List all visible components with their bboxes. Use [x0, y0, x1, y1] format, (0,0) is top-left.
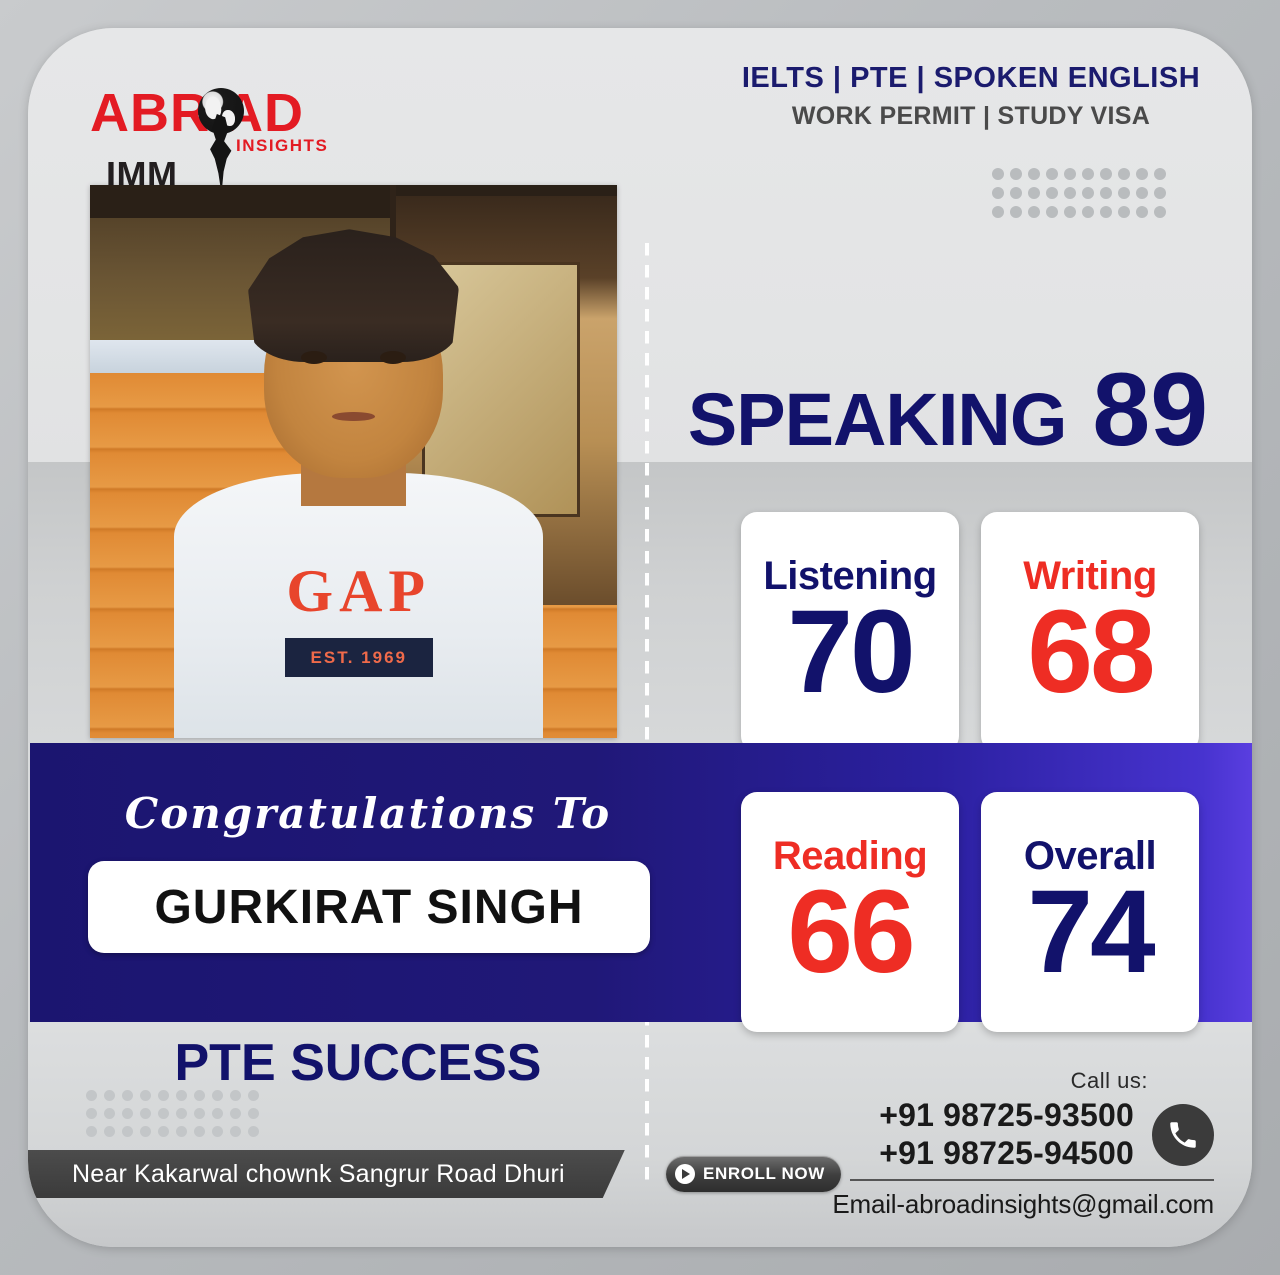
header-line-2: WORK PERMIT | STUDY VISA: [736, 102, 1206, 131]
congratulations-text: Congratulations To: [90, 789, 646, 838]
phone-number-1[interactable]: +91 98725-93500: [802, 1096, 1134, 1134]
contact-block: Call us: +91 98725-93500 +91 98725-94500…: [802, 1068, 1222, 1220]
score-value: 74: [1027, 872, 1152, 992]
speaking-label: SPEAKING: [688, 385, 1067, 455]
email-address[interactable]: Email-abroadinsights@gmail.com: [802, 1189, 1222, 1220]
brand-logo: ABR AD INSIGHTS IMM GRATION: [90, 70, 350, 188]
photo-shirt-brand: GAP: [253, 561, 464, 622]
call-us-label: Call us:: [802, 1068, 1148, 1094]
poster-card: ABR AD INSIGHTS IMM GRATION IELTS | PTE …: [28, 28, 1252, 1247]
speaking-score-row: SPEAKING 89: [668, 366, 1228, 455]
logo-insights-text: INSIGHTS: [236, 136, 328, 156]
score-card-overall: Overall 74: [981, 792, 1199, 1032]
decorative-dot-grid-top: [992, 168, 1172, 218]
speaking-value: 89: [1092, 366, 1208, 455]
header-services: IELTS | PTE | SPOKEN ENGLISH WORK PERMIT…: [736, 62, 1206, 131]
score-card-writing: Writing 68: [981, 512, 1199, 752]
score-card-listening: Listening 70: [741, 512, 959, 752]
photo-mouth: [332, 412, 374, 421]
photo-shirt-tag: EST. 1969: [285, 638, 433, 677]
score-value: 66: [787, 872, 912, 992]
pte-success-headline: PTE SUCCESS: [128, 1033, 588, 1093]
decorative-dot-grid-bottom: [86, 1090, 266, 1137]
contact-divider: [850, 1179, 1214, 1181]
phone-icon: [1152, 1104, 1214, 1166]
student-name: GURKIRAT SINGH: [154, 880, 583, 935]
student-name-box: GURKIRAT SINGH: [88, 861, 650, 953]
phone-number-2[interactable]: +91 98725-94500: [802, 1134, 1134, 1172]
play-icon: [675, 1164, 695, 1184]
score-value: 68: [1027, 592, 1152, 712]
logo-abroad-text: ABR AD: [90, 86, 304, 140]
score-cards-row-1: Listening 70 Writing 68: [741, 512, 1199, 752]
student-photo: GAP EST. 1969: [90, 185, 617, 738]
dashed-vertical-divider: [645, 243, 649, 1188]
score-card-reading: Reading 66: [741, 792, 959, 1032]
address-text: Near Kakarwal chownk Sangrur Road Dhuri: [72, 1160, 565, 1189]
phone-numbers: +91 98725-93500 +91 98725-94500: [802, 1096, 1222, 1173]
score-value: 70: [787, 592, 912, 712]
header-line-1: IELTS | PTE | SPOKEN ENGLISH: [736, 62, 1206, 95]
score-cards-row-2: Reading 66 Overall 74: [741, 792, 1199, 1032]
address-bar: Near Kakarwal chownk Sangrur Road Dhuri: [28, 1150, 625, 1198]
